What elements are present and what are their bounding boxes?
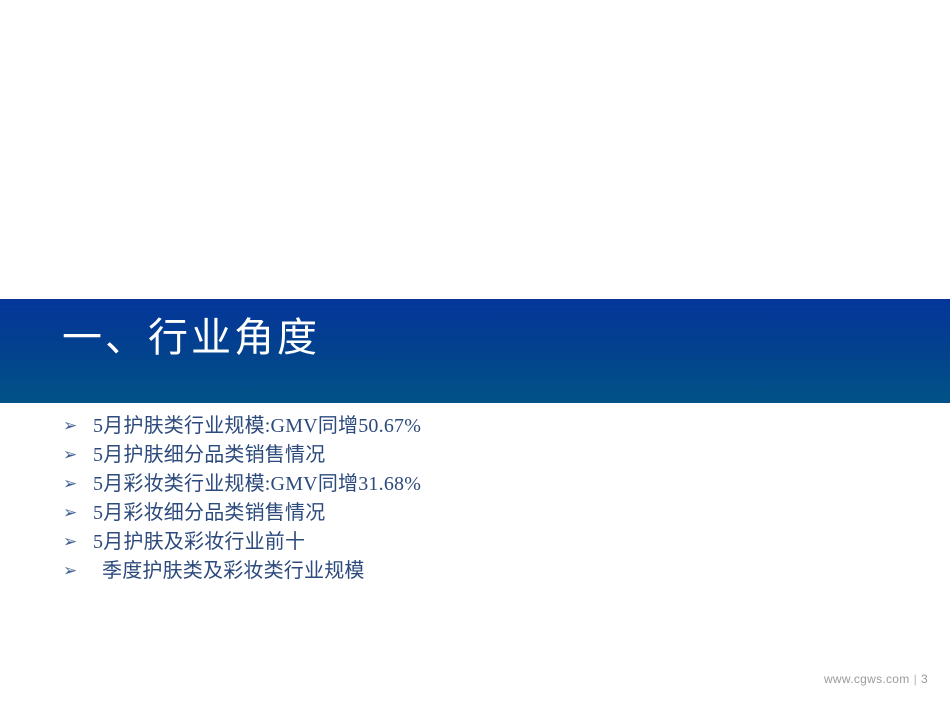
- agenda-list-item[interactable]: ➢ 5月护肤细分品类销售情况: [0, 442, 950, 471]
- arrowhead-bullet-icon: ➢: [63, 558, 87, 585]
- slide-page-number: 3: [921, 672, 928, 686]
- agenda-list-item[interactable]: ➢ 5月彩妆类行业规模:GMV同增31.68%: [0, 471, 950, 500]
- agenda-item-label: 5月护肤及彩妆行业前十: [93, 529, 305, 556]
- agenda-list-item[interactable]: ➢ 5月护肤类行业规模:GMV同增50.67%: [0, 413, 950, 442]
- arrowhead-bullet-icon: ➢: [63, 529, 87, 556]
- footer-website: www.cgws.com: [824, 672, 910, 686]
- arrowhead-bullet-icon: ➢: [63, 442, 87, 469]
- slide-upper-blank-area: [0, 0, 950, 299]
- agenda-item-label: 季度护肤类及彩妆类行业规模: [93, 558, 365, 585]
- slide-footer: www.cgws.com|3: [628, 671, 928, 687]
- arrowhead-bullet-icon: ➢: [63, 413, 87, 440]
- agenda-list-item[interactable]: ➢ 5月护肤及彩妆行业前十: [0, 529, 950, 558]
- agenda-list: ➢ 5月护肤类行业规模:GMV同增50.67% ➢ 5月护肤细分品类销售情况 ➢…: [0, 413, 950, 587]
- slide-canvas: 一、行业角度 ➢ 5月护肤类行业规模:GMV同增50.67% ➢ 5月护肤细分品…: [0, 0, 950, 713]
- agenda-item-label: 5月彩妆类行业规模:GMV同增31.68%: [93, 471, 421, 498]
- agenda-item-label: 5月护肤类行业规模:GMV同增50.67%: [93, 413, 421, 440]
- section-title: 一、行业角度: [62, 318, 320, 358]
- agenda-item-label: 5月彩妆细分品类销售情况: [93, 500, 325, 527]
- section-divider-band: 一、行业角度: [0, 299, 950, 403]
- footer-separator: |: [910, 672, 921, 686]
- agenda-list-item[interactable]: ➢ 季度护肤类及彩妆类行业规模: [0, 558, 950, 587]
- arrowhead-bullet-icon: ➢: [63, 500, 87, 527]
- agenda-item-label: 5月护肤细分品类销售情况: [93, 442, 325, 469]
- agenda-list-item[interactable]: ➢ 5月彩妆细分品类销售情况: [0, 500, 950, 529]
- arrowhead-bullet-icon: ➢: [63, 471, 87, 498]
